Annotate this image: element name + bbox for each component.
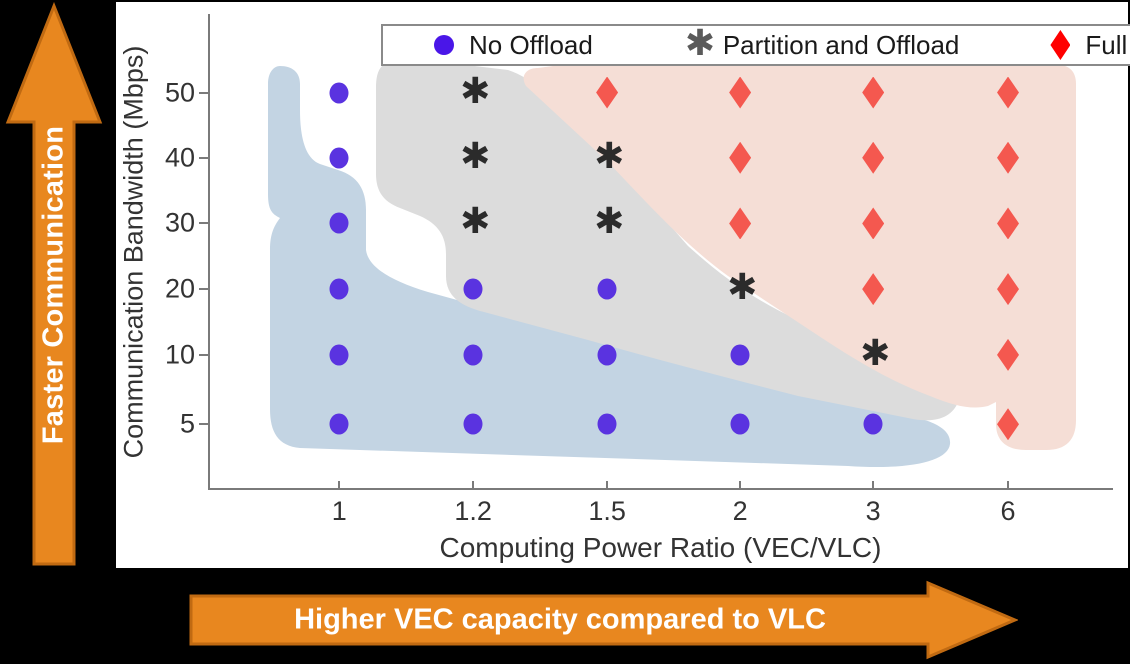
x-ticklabel-2: 2 [733, 496, 748, 527]
marker-diamond-x6-y30 [997, 207, 1019, 239]
marker-circle-x3-y5 [864, 414, 883, 435]
marker-diamond-x2-y30 [729, 207, 751, 239]
no-offload-region [268, 66, 950, 467]
partition-offload-region [376, 62, 960, 420]
legend: No Offload ✱ Partition and Offload Full … [381, 24, 1130, 66]
full-offload-region [524, 64, 1076, 450]
plot-area: 50403020105 11.21.5236 ✱✱✱✱✱✱✱ Computing… [208, 14, 1113, 490]
marker-diamond-x3-y30 [862, 207, 884, 239]
marker-diamond-x3-y50 [862, 77, 884, 109]
y-tick-20 [199, 288, 208, 290]
x-ticklabel-1.2: 1.2 [454, 496, 492, 527]
x-tick-6 [1007, 481, 1009, 490]
figure-root: Faster Communication Higher VEC capacity… [0, 0, 1130, 664]
marker-diamond-x3-y40 [862, 142, 884, 174]
marker-asterisk-x1.2-y50: ✱ [460, 80, 486, 106]
y-ticklabel-20: 20 [165, 274, 195, 305]
x-ticklabel-6: 6 [1001, 496, 1016, 527]
legend-item-partition-and-offload: ✱ Partition and Offload [685, 30, 960, 61]
marker-asterisk-x1.2-y40: ✱ [460, 145, 486, 171]
marker-circle-x1-y20 [330, 279, 349, 300]
legend-item-no-offload: No Offload [431, 30, 593, 61]
marker-asterisk-x1.5-y30: ✱ [594, 210, 620, 236]
arrow-up-icon [4, 2, 104, 568]
y-ticklabel-5: 5 [180, 409, 195, 440]
y-tick-30 [199, 222, 208, 224]
marker-diamond-x6-y50 [997, 77, 1019, 109]
legend-label-full-offload: Full Offload [1085, 30, 1130, 61]
marker-circle-x2-y10 [731, 344, 750, 365]
marker-diamond-x2-y40 [729, 142, 751, 174]
x-ticklabel-3: 3 [866, 496, 881, 527]
asterisk-marker-icon: ✱ [685, 30, 711, 60]
x-tick-2 [739, 481, 741, 490]
marker-diamond-x6-y5 [997, 408, 1019, 440]
marker-asterisk-x1.2-y30: ✱ [460, 210, 486, 236]
legend-item-full-offload: Full Offload [1047, 30, 1130, 61]
y-ticklabel-50: 50 [165, 77, 195, 108]
y-ticklabel-40: 40 [165, 142, 195, 173]
marker-diamond-x6-y40 [997, 142, 1019, 174]
marker-circle-x1.5-y10 [598, 344, 617, 365]
y-ticklabel-30: 30 [165, 208, 195, 239]
marker-circle-x1.5-y5 [598, 414, 617, 435]
marker-diamond-x6-y20 [997, 273, 1019, 305]
marker-circle-x1.5-y20 [598, 279, 617, 300]
marker-asterisk-x3-y10: ✱ [860, 342, 886, 368]
x-ticklabel-1.5: 1.5 [588, 496, 626, 527]
x-axis-line [208, 488, 1113, 490]
arrow-right-icon [188, 580, 1018, 660]
x-tick-1 [338, 481, 340, 490]
y-axis-line [208, 14, 210, 490]
y-tick-50 [199, 92, 208, 94]
marker-diamond-x2-y50 [729, 77, 751, 109]
legend-label-partition-and-offload: Partition and Offload [723, 30, 960, 61]
x-ticklabel-1: 1 [332, 496, 347, 527]
y-ticklabel-10: 10 [165, 339, 195, 370]
marker-circle-x2-y5 [731, 414, 750, 435]
decision-regions [208, 14, 1113, 490]
marker-asterisk-x1.5-y40: ✱ [594, 145, 620, 171]
faster-communication-arrow: Faster Communication [4, 2, 104, 568]
marker-circle-x1-y50 [330, 82, 349, 103]
y-tick-5 [199, 423, 208, 425]
x-axis-title: Computing Power Ratio (VEC/VLC) [208, 532, 1113, 564]
marker-diamond-x3-y20 [862, 273, 884, 305]
marker-circle-x1-y5 [330, 414, 349, 435]
marker-circle-x1-y40 [330, 147, 349, 168]
marker-circle-x1-y30 [330, 213, 349, 234]
y-tick-10 [199, 354, 208, 356]
marker-circle-x1-y10 [330, 344, 349, 365]
y-axis-title: Communication Bandwidth (Mbps) [119, 46, 150, 459]
x-tick-3 [872, 481, 874, 490]
diamond-marker-icon [1047, 30, 1073, 60]
y-tick-40 [199, 157, 208, 159]
marker-circle-x1.2-y10 [464, 344, 483, 365]
marker-diamond-x1.5-y50 [596, 77, 618, 109]
chart-canvas: 50403020105 11.21.5236 ✱✱✱✱✱✱✱ Computing… [116, 2, 1128, 568]
higher-vec-capacity-arrow: Higher VEC capacity compared to VLC [188, 580, 1018, 660]
marker-circle-x1.2-y5 [464, 414, 483, 435]
marker-diamond-x6-y10 [997, 339, 1019, 371]
x-tick-1.5 [606, 481, 608, 490]
circle-marker-icon [431, 30, 457, 60]
marker-asterisk-x2-y20: ✱ [727, 276, 753, 302]
marker-circle-x1.2-y20 [464, 279, 483, 300]
legend-label-no-offload: No Offload [469, 30, 593, 61]
x-tick-1.2 [472, 481, 474, 490]
